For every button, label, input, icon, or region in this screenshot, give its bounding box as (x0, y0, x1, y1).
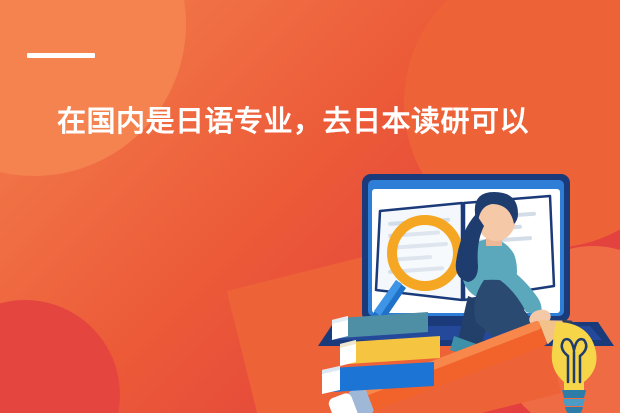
study-research-illustration (318, 170, 620, 413)
page-title: 在国内是日语专业，去日本读研可以 (57, 104, 577, 140)
background-blob-bottom-left (0, 300, 120, 413)
promo-banner: 在国内是日语专业，去日本读研可以 (0, 0, 620, 413)
accent-rule (27, 53, 95, 58)
stacked-books (322, 312, 440, 394)
bulb-base (562, 390, 586, 413)
background-blob-top-left (0, 0, 186, 176)
